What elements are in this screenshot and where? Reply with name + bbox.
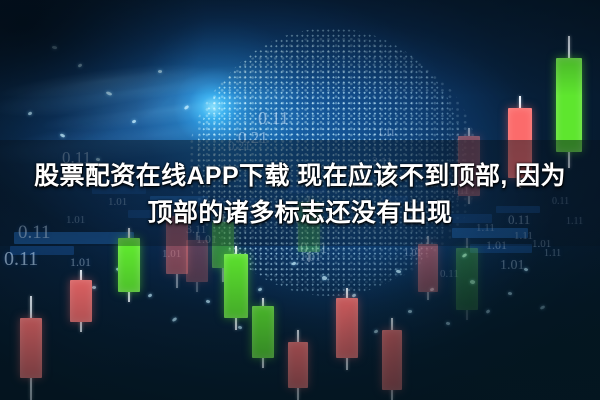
- headline-line-1: 股票配资在线APP下载 现在应该不到顶部, 因为: [14, 158, 586, 195]
- banner-image: 0.111.011.010.110.111.011.010.210.110.21…: [0, 0, 600, 400]
- headline: 股票配资在线APP下载 现在应该不到顶部, 因为 顶部的诸多标志还没有出现: [0, 158, 600, 232]
- headline-line-2: 顶部的诸多标志还没有出现: [14, 195, 586, 232]
